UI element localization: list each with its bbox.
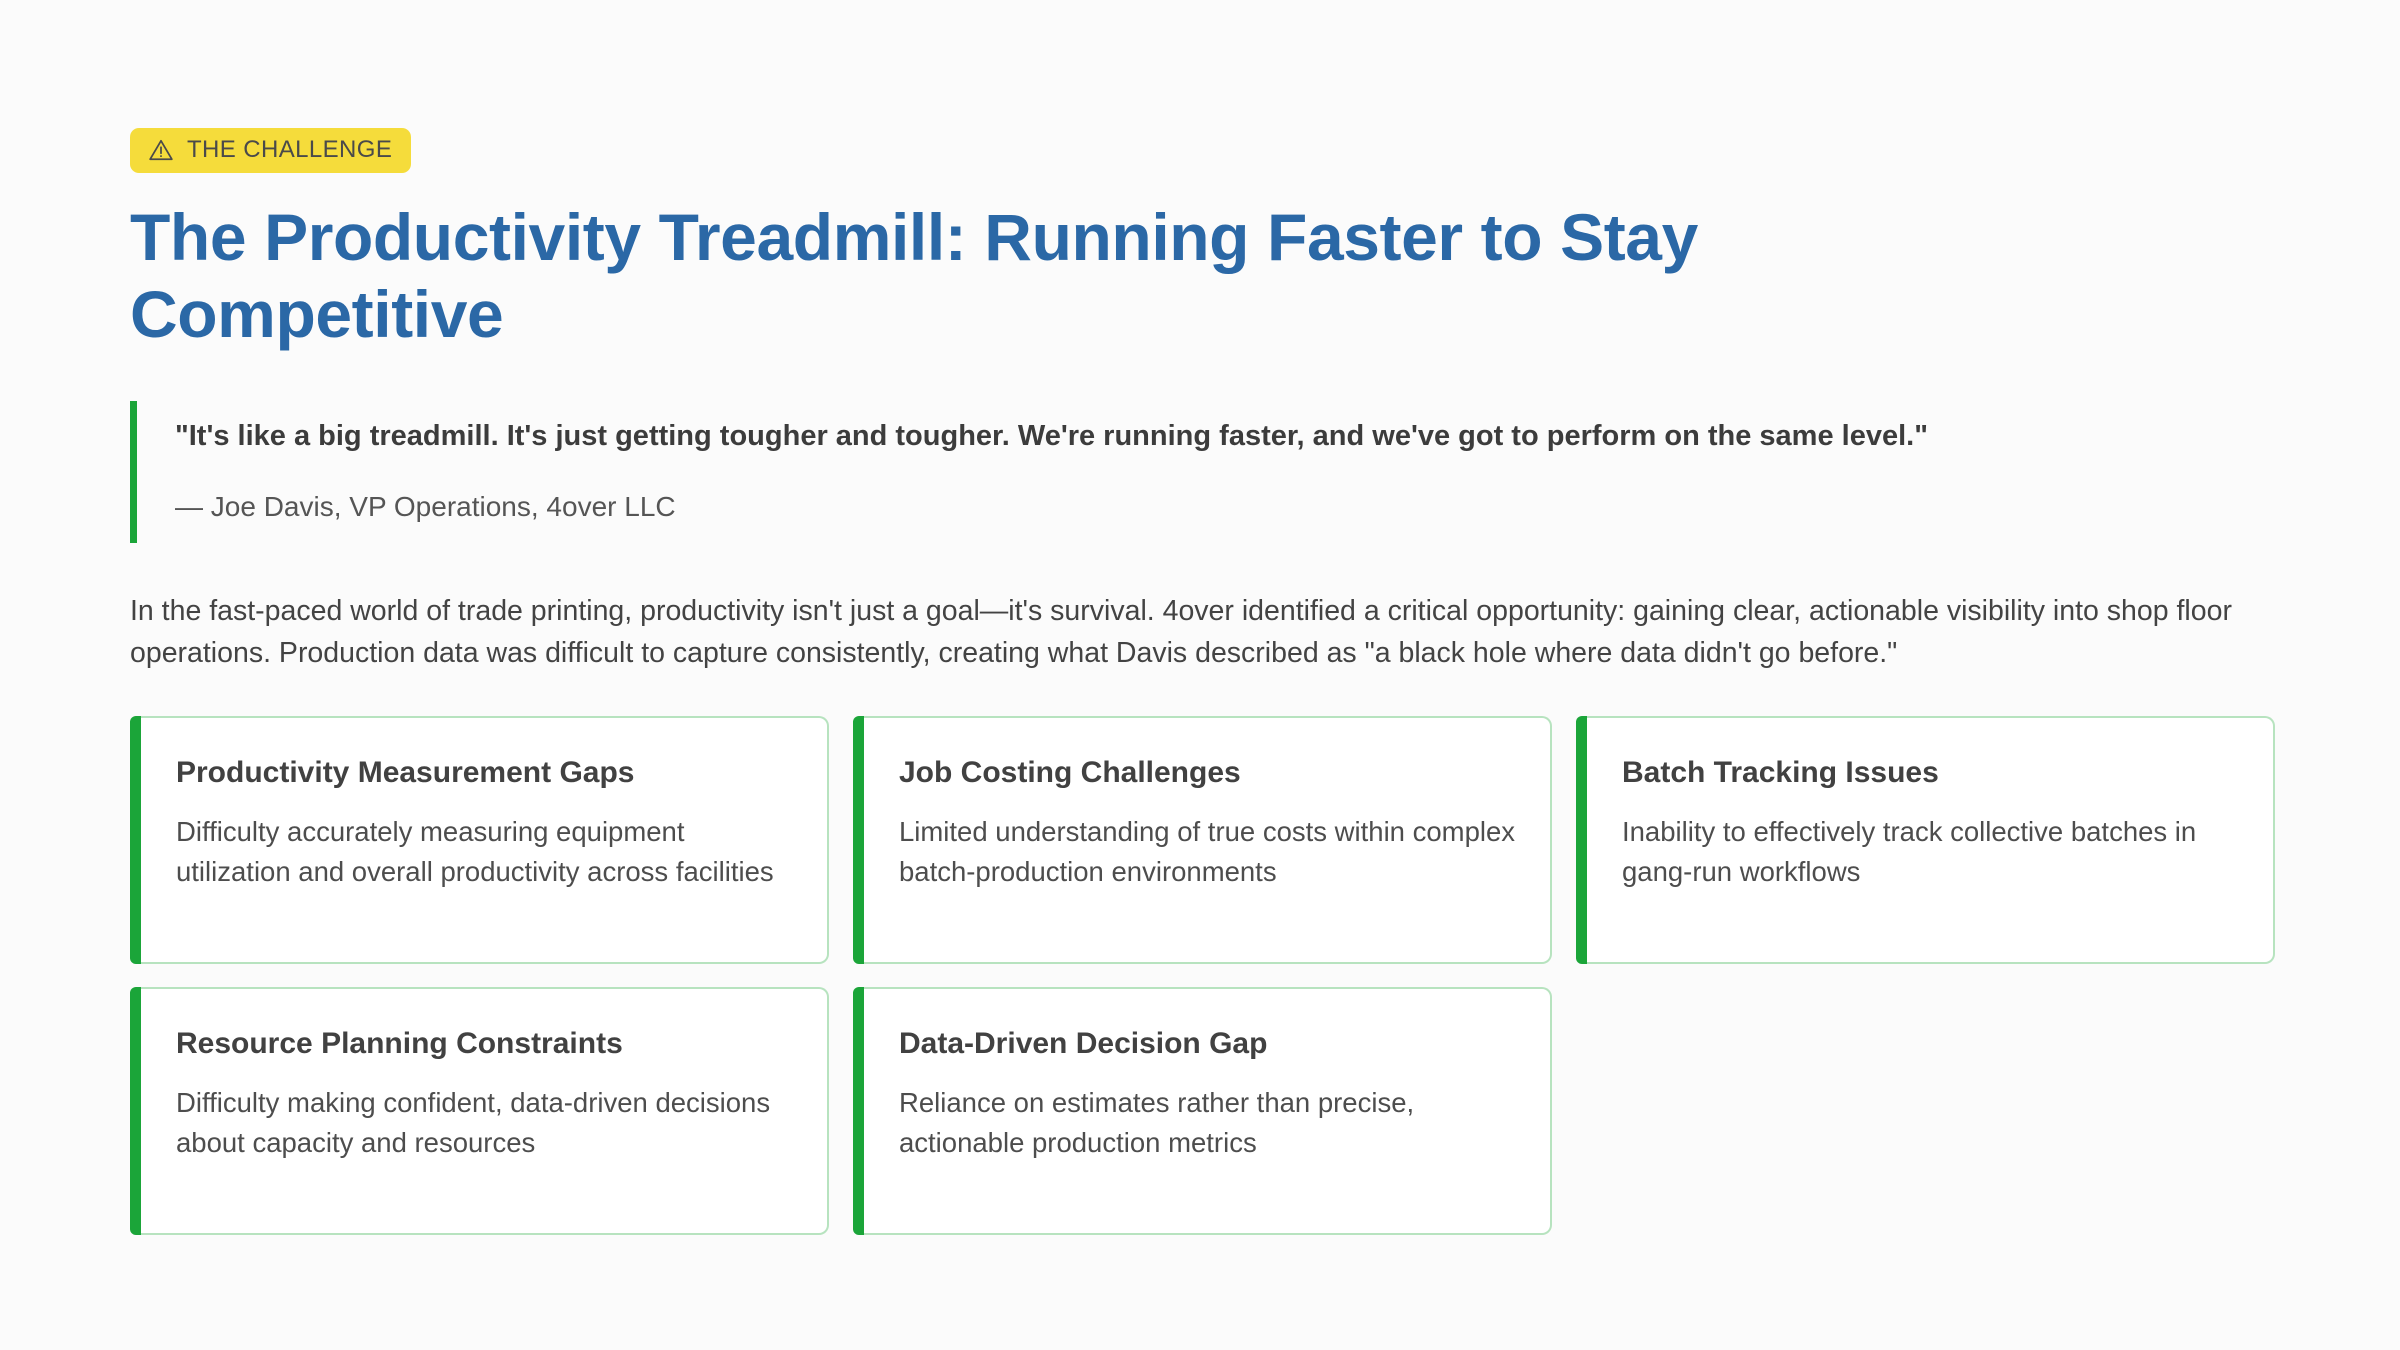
challenge-card-title: Job Costing Challenges	[899, 754, 1516, 792]
warning-triangle-icon	[148, 137, 174, 163]
challenge-card-title: Resource Planning Constraints	[176, 1025, 793, 1063]
challenge-card: Job Costing Challenges Limited understan…	[853, 716, 1552, 964]
challenge-card-title: Data-Driven Decision Gap	[899, 1025, 1516, 1063]
challenge-card-description: Reliance on estimates rather than precis…	[899, 1083, 1516, 1165]
challenge-card-description: Inability to effectively track collectiv…	[1622, 812, 2239, 894]
pull-quote-text: "It's like a big treadmill. It's just ge…	[175, 415, 2260, 457]
challenge-section: THE CHALLENGE The Productivity Treadmill…	[0, 0, 2400, 1350]
pull-quote-attribution: — Joe Davis, VP Operations, 4over LLC	[175, 487, 2260, 526]
page-title: The Productivity Treadmill: Running Fast…	[130, 199, 2030, 353]
challenge-card: Productivity Measurement Gaps Difficulty…	[130, 716, 829, 964]
challenge-card-title: Batch Tracking Issues	[1622, 754, 2239, 792]
challenge-card-description: Difficulty accurately measuring equipmen…	[176, 812, 793, 894]
challenge-card-description: Limited understanding of true costs with…	[899, 812, 1516, 894]
challenge-card: Data-Driven Decision Gap Reliance on est…	[853, 987, 1552, 1235]
section-badge: THE CHALLENGE	[130, 128, 411, 173]
pull-quote: "It's like a big treadmill. It's just ge…	[130, 401, 2260, 542]
intro-paragraph: In the fast-paced world of trade printin…	[130, 590, 2270, 674]
challenge-card: Batch Tracking Issues Inability to effec…	[1576, 716, 2275, 964]
section-badge-label: THE CHALLENGE	[187, 138, 392, 162]
challenge-card-title: Productivity Measurement Gaps	[176, 754, 793, 792]
challenge-card: Resource Planning Constraints Difficulty…	[130, 987, 829, 1235]
challenge-card-grid: Productivity Measurement Gaps Difficulty…	[130, 716, 2275, 1235]
challenge-card-description: Difficulty making confident, data-driven…	[176, 1083, 793, 1165]
